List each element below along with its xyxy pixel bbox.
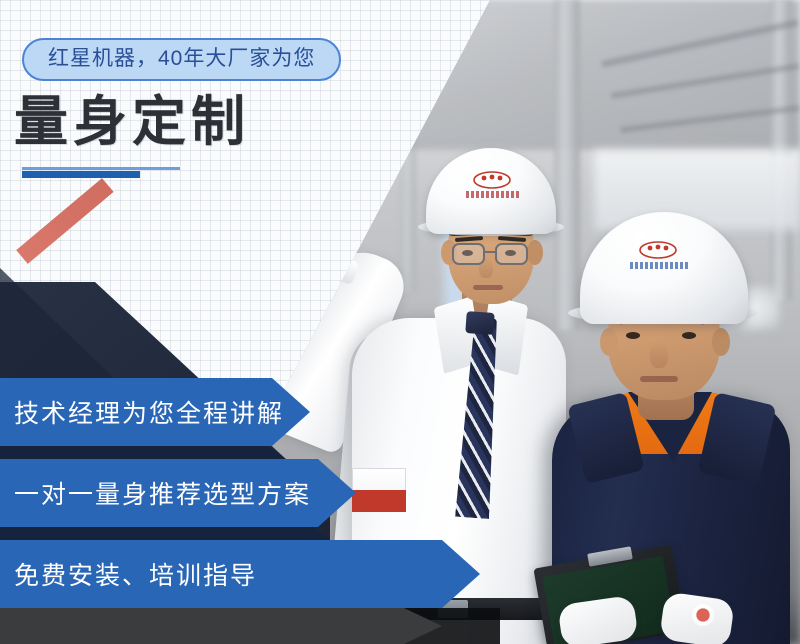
title-underline-light xyxy=(22,167,180,170)
worker-right-eye xyxy=(626,332,640,339)
feature-bar-1-label: 技术经理为您全程讲解 xyxy=(14,394,284,430)
feature-bar-1: 技术经理为您全程讲解 xyxy=(0,378,310,446)
worker-right-mouth xyxy=(640,376,678,382)
feature-bar-3: 免费安装、培训指导 xyxy=(0,540,480,608)
worker-right-eye xyxy=(682,332,696,339)
feature-bar-2: 一对一量身推荐选型方案 xyxy=(0,459,356,527)
worker-left-ear xyxy=(527,240,543,265)
feature-bar-shadow xyxy=(0,446,286,459)
worker-left-mouth xyxy=(473,285,503,290)
title-underline-bold xyxy=(22,171,140,178)
helmet-logo-icon xyxy=(472,168,512,190)
glove-logo-icon xyxy=(692,604,714,626)
helmet-logo-icon xyxy=(638,238,678,260)
page-title: 量身定制 xyxy=(14,94,250,151)
feature-bar-3-label: 免费安装、培训指导 xyxy=(14,556,257,592)
promo-banner: 红星机器，40年大厂家为您 量身定制 技术经理为您全程讲解 一对一量身推荐选型方… xyxy=(0,0,800,644)
tagline-badge: 红星机器，40年大厂家为您 xyxy=(22,38,341,81)
footer-strip xyxy=(0,608,442,644)
feature-bar-2-label: 一对一量身推荐选型方案 xyxy=(14,475,311,511)
hall-column xyxy=(554,0,580,330)
worker-left-eyeglass-bridge xyxy=(485,251,495,253)
helmet-logo-text xyxy=(466,191,520,198)
worker-right-ear xyxy=(600,328,618,356)
worker-left-eyeglass-lens xyxy=(495,243,528,265)
worker-left-tie-knot xyxy=(465,311,494,335)
worker-left-badge-logo xyxy=(352,490,406,512)
worker-right-ear xyxy=(712,328,730,356)
worker-right-nose xyxy=(650,342,668,368)
worker-left-nose xyxy=(479,258,493,278)
feature-bar-shadow xyxy=(0,527,330,540)
helmet-logo-text xyxy=(630,262,688,269)
